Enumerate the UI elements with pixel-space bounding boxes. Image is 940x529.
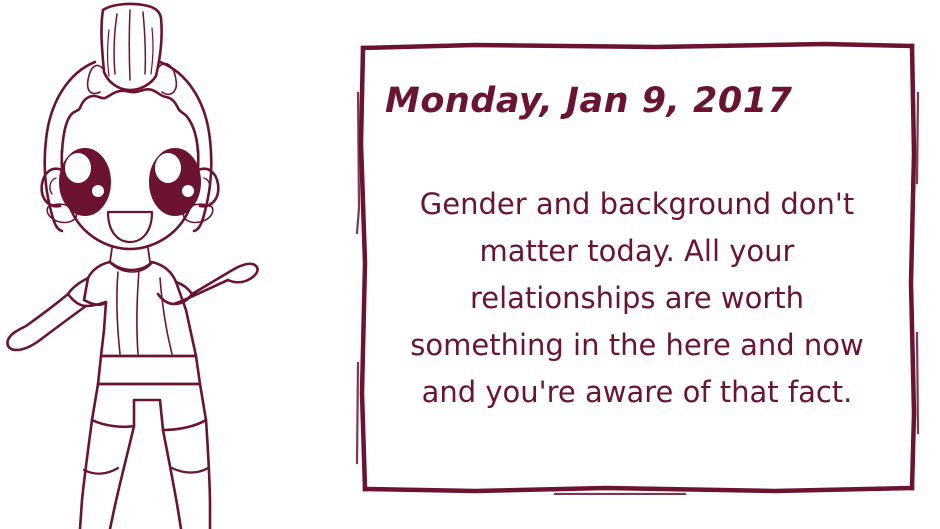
note-text-layer: Monday, Jan 9, 2017 Gender and backgroun… <box>355 33 920 495</box>
smile-mouth <box>108 212 152 242</box>
shirt-fold-right <box>160 278 172 354</box>
right-eye-highlight-large <box>155 153 181 183</box>
right-eye-highlight-small <box>182 185 194 197</box>
shorts-crotch-line <box>134 400 163 430</box>
note-body-line: and you're aware of that fact. <box>367 369 907 416</box>
hairline-fringe <box>62 89 198 152</box>
mohawk-strand-2 <box>129 10 130 80</box>
left-eye-highlight-small <box>92 185 104 197</box>
note-body-line: something in the here and now <box>367 322 907 369</box>
right-sleeve <box>158 282 192 304</box>
left-leg <box>80 420 134 529</box>
mohawk-strand-3 <box>143 12 145 74</box>
left-ear <box>42 169 62 206</box>
left-arm <box>26 294 86 340</box>
left-hand <box>7 326 40 350</box>
note-date: Monday, Jan 9, 2017 <box>385 81 905 121</box>
chibi-character <box>0 0 300 529</box>
character-line-art <box>0 0 300 529</box>
shirt-fold-center <box>137 270 139 354</box>
mohawk-side-left <box>88 65 104 93</box>
left-ear-inner <box>50 178 56 194</box>
note-body: Gender and background don't matter today… <box>367 181 907 416</box>
left-boot-top <box>84 468 118 474</box>
mohawk-strand-5 <box>151 28 153 74</box>
left-eye-highlight-large <box>65 153 91 183</box>
belt <box>98 356 200 384</box>
note-body-line: matter today. All your <box>367 228 907 275</box>
right-hand <box>228 264 258 282</box>
shorts <box>92 384 206 430</box>
mohawk-strand-4 <box>108 30 110 76</box>
horoscope-illustration-canvas: Monday, Jan 9, 2017 Gender and backgroun… <box>0 0 940 529</box>
note-body-line: relationships are worth <box>367 275 907 322</box>
note-body-line: Gender and background don't <box>367 181 907 228</box>
shirt-fold-left <box>117 272 120 354</box>
right-boot-top <box>172 468 208 473</box>
shirt-torso <box>84 262 196 356</box>
note-card: Monday, Jan 9, 2017 Gender and backgroun… <box>355 33 920 495</box>
mohawk-strand-1 <box>114 14 117 74</box>
right-leg <box>163 420 210 529</box>
